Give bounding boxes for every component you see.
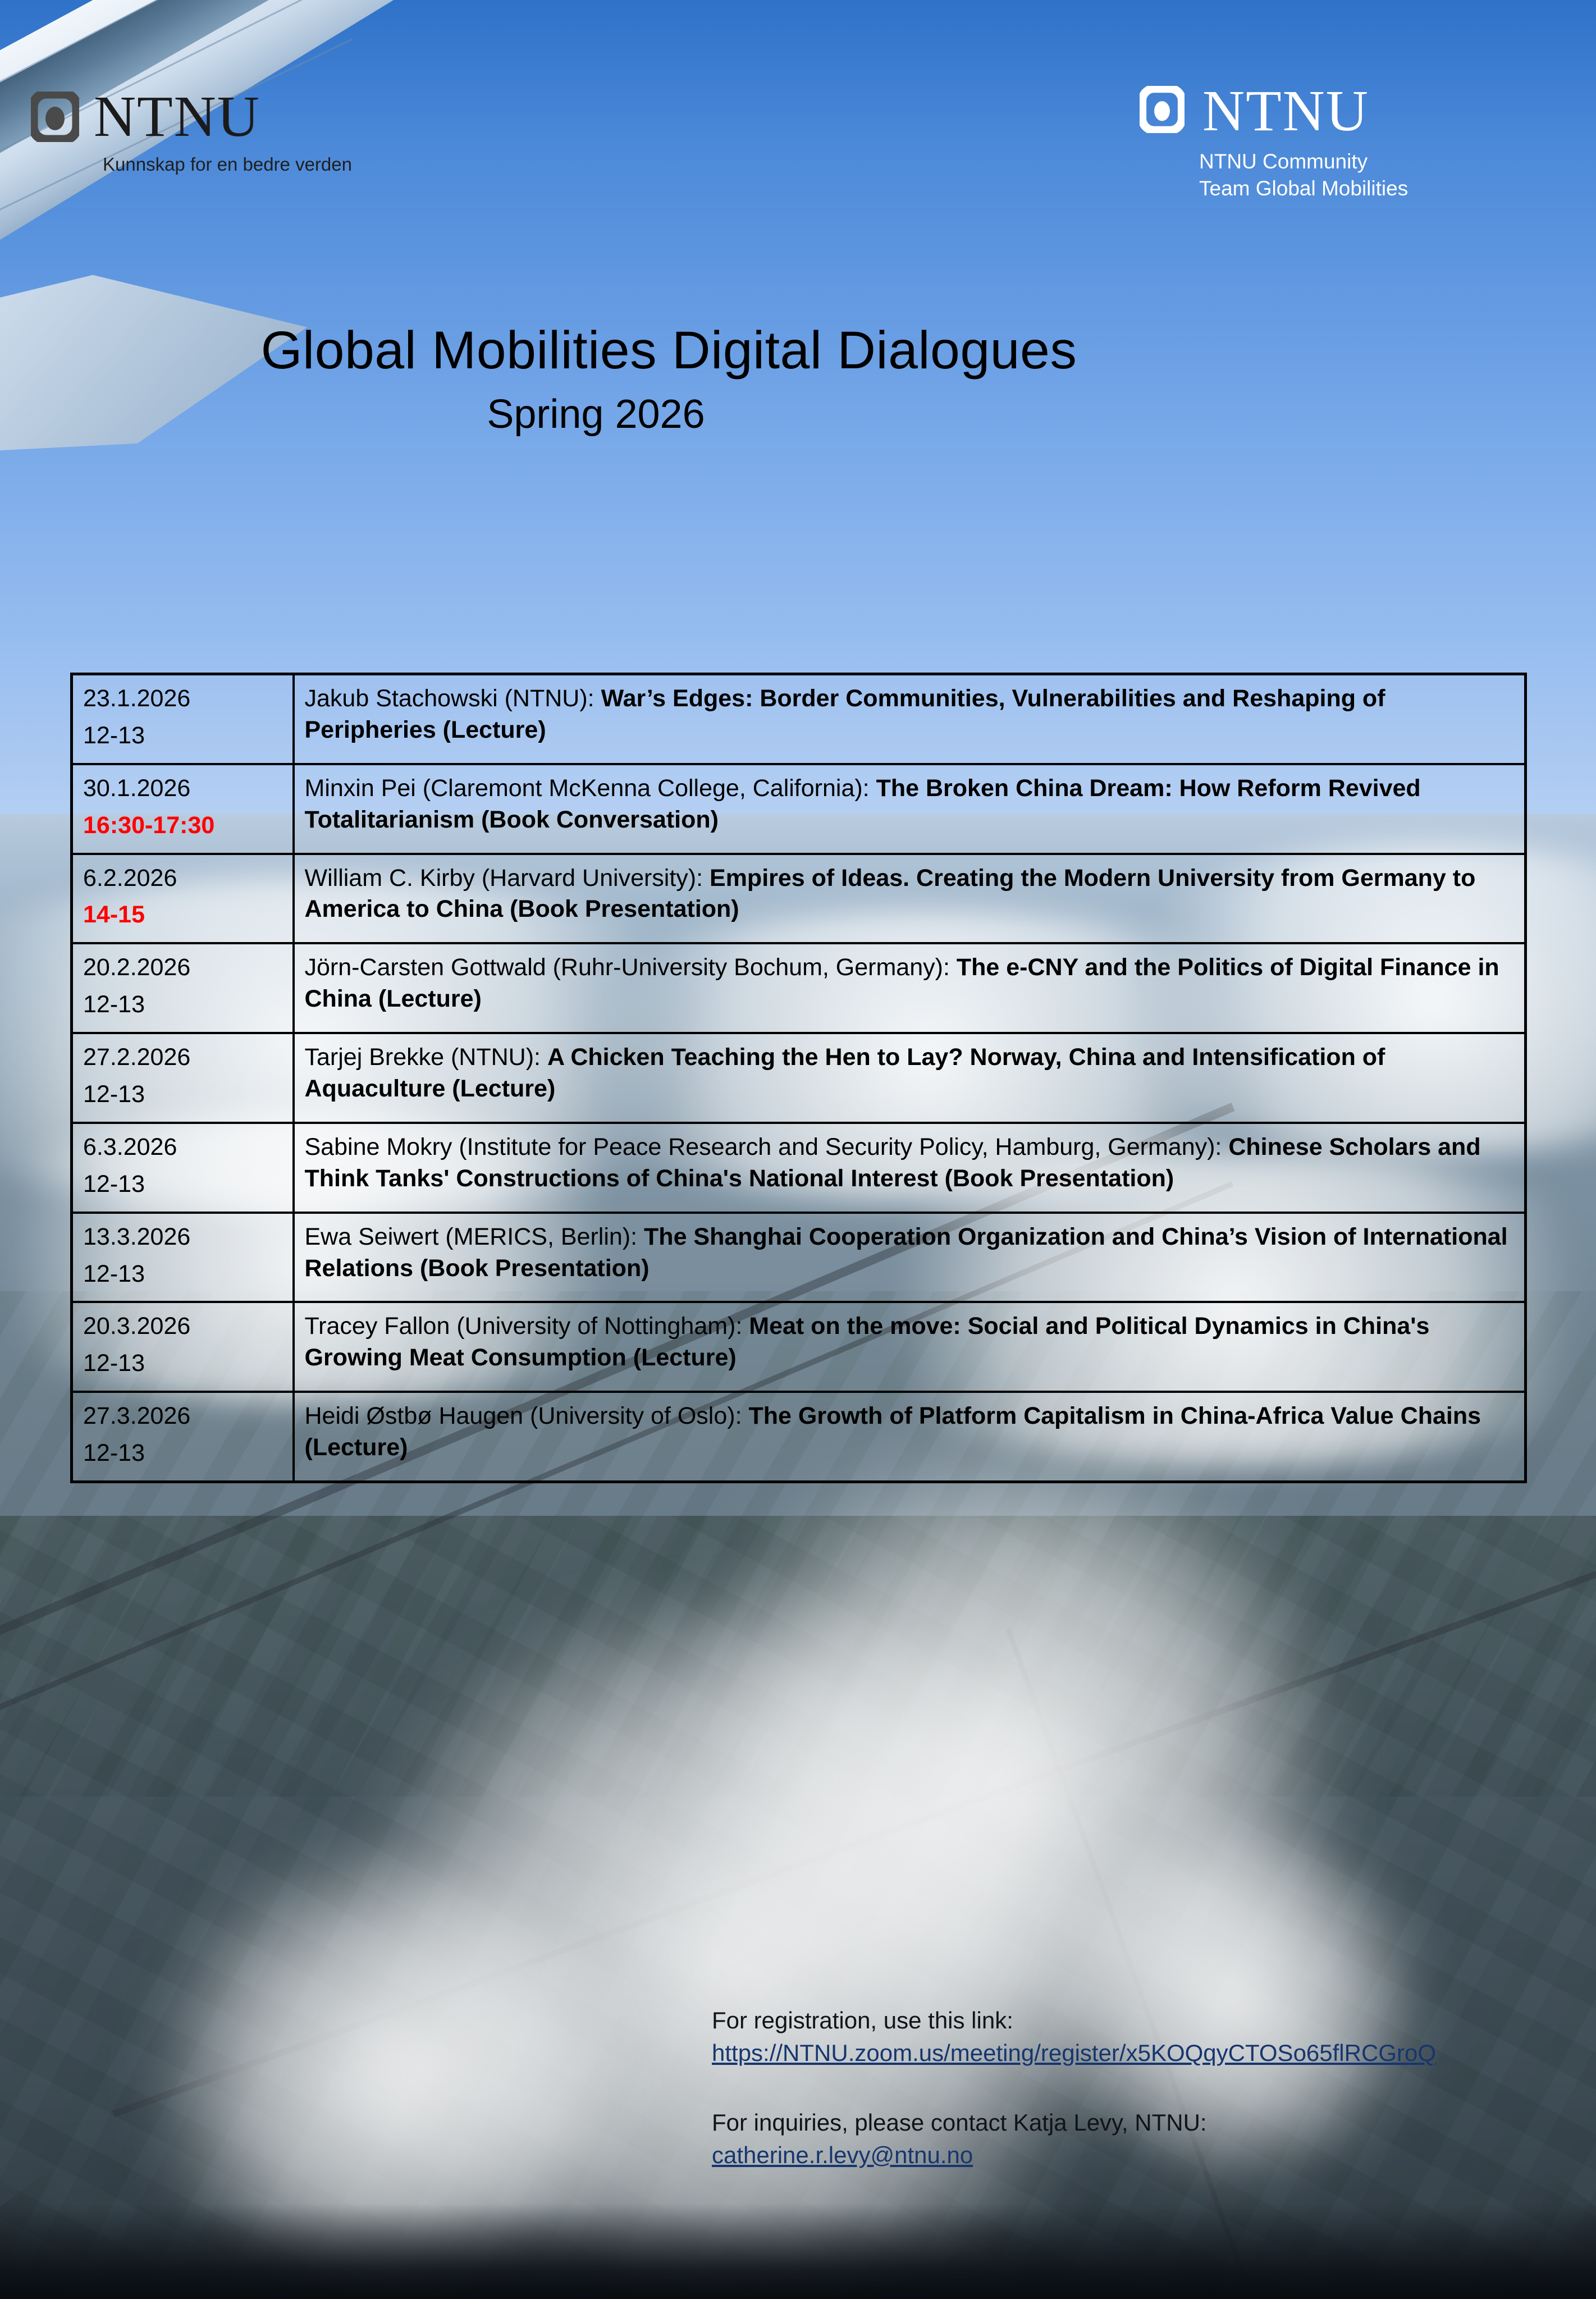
ntnu-wordmark: NTNU (94, 90, 260, 144)
schedule-date: 23.1.2026 (83, 683, 282, 715)
schedule-speaker: Tracey Fallon (University of Nottingham)… (305, 1313, 749, 1340)
schedule-speaker: Ewa Seiwert (MERICS, Berlin): (305, 1223, 644, 1250)
poster-title: Global Mobilities Digital Dialogues (0, 320, 1596, 381)
schedule-date: 27.2.2026 (83, 1042, 282, 1073)
schedule-date-cell: 23.1.202612-13 (72, 674, 294, 764)
poster-subtitle: Spring 2026 (0, 391, 1596, 437)
schedule-date: 6.2.2026 (83, 863, 282, 894)
poster: -2025 NTNU Kunnskap for en bedre verden (0, 0, 1596, 2299)
ntnu-logo-mark-icon (1140, 86, 1188, 136)
schedule-description-cell: Tracey Fallon (University of Nottingham)… (294, 1302, 1526, 1392)
schedule-date: 20.2.2026 (83, 952, 282, 984)
schedule-date-cell: 13.3.202612-13 (72, 1213, 294, 1302)
ntnu-logo-mark-icon (31, 92, 79, 142)
schedule-time: 12-13 (83, 989, 282, 1021)
schedule-description-cell: Ewa Seiwert (MERICS, Berlin): The Shangh… (294, 1213, 1526, 1302)
schedule-description-cell: Minxin Pei (Claremont McKenna College, C… (294, 764, 1526, 854)
schedule-speaker: William C. Kirby (Harvard University): (305, 865, 710, 892)
schedule-time: 12-13 (83, 720, 282, 752)
schedule-speaker: Tarjej Brekke (NTNU): (305, 1044, 547, 1071)
schedule-date-cell: 27.2.202612-13 (72, 1033, 294, 1123)
schedule-description-cell: Jakub Stachowski (NTNU): War’s Edges: Bo… (294, 674, 1526, 764)
ntnu-community-line2: Team Global Mobilities (1199, 175, 1408, 202)
footer-contact: For registration, use this link: https:/… (712, 2004, 1554, 2172)
schedule-date-cell: 6.3.202612-13 (72, 1123, 294, 1213)
table-row: 27.3.202612-13Heidi Østbø Haugen (Univer… (72, 1392, 1526, 1482)
schedule-speaker: Minxin Pei (Claremont McKenna College, C… (305, 775, 876, 802)
schedule-date: 13.3.2026 (83, 1222, 282, 1253)
schedule-speaker: Jörn-Carsten Gottwald (Ruhr-University B… (305, 954, 957, 981)
schedule-date: 6.3.2026 (83, 1132, 282, 1163)
ntnu-logo-left: NTNU Kunnskap for en bedre verden (31, 90, 352, 177)
registration-link[interactable]: https://NTNU.zoom.us/meeting/register/x5… (712, 2037, 1554, 2069)
schedule-speaker: Heidi Østbø Haugen (University of Oslo): (305, 1402, 749, 1429)
table-row: 6.2.202614-15William C. Kirby (Harvard U… (72, 854, 1526, 944)
table-row: 27.2.202612-13Tarjej Brekke (NTNU): A Ch… (72, 1033, 1526, 1123)
schedule-date-cell: 20.2.202612-13 (72, 943, 294, 1033)
schedule-speaker: Sabine Mokry (Institute for Peace Resear… (305, 1133, 1229, 1160)
table-row: 23.1.202612-13Jakub Stachowski (NTNU): W… (72, 674, 1526, 764)
schedule-time: 12-13 (83, 1348, 282, 1379)
poster-title-block: Global Mobilities Digital Dialogues Spri… (0, 320, 1596, 437)
schedule-date: 27.3.2026 (83, 1401, 282, 1432)
schedule-time: 12-13 (83, 1438, 282, 1469)
table-row: 13.3.202612-13Ewa Seiwert (MERICS, Berli… (72, 1213, 1526, 1302)
inquiries-email-link[interactable]: catherine.r.levy@ntnu.no (712, 2139, 1554, 2172)
schedule-description-cell: Jörn-Carsten Gottwald (Ruhr-University B… (294, 943, 1526, 1033)
schedule-date-cell: 6.2.202614-15 (72, 854, 294, 944)
schedule-description-cell: Sabine Mokry (Institute for Peace Resear… (294, 1123, 1526, 1213)
registration-label: For registration, use this link: (712, 2004, 1554, 2037)
schedule-description-cell: William C. Kirby (Harvard University): E… (294, 854, 1526, 944)
schedule-date: 30.1.2026 (83, 773, 282, 805)
schedule-description-cell: Tarjej Brekke (NTNU): A Chicken Teaching… (294, 1033, 1526, 1123)
schedule-time: 12-13 (83, 1169, 282, 1200)
ntnu-logo-right: NTNU NTNU Community Team Global Mobiliti… (1140, 84, 1408, 202)
inquiries-label: For inquiries, please contact Katja Levy… (712, 2106, 1554, 2139)
schedule-time: 12-13 (83, 1259, 282, 1290)
schedule-speaker: Jakub Stachowski (NTNU): (305, 685, 601, 712)
table-row: 20.3.202612-13Tracey Fallon (University … (72, 1302, 1526, 1392)
schedule-description-cell: Heidi Østbø Haugen (University of Oslo):… (294, 1392, 1526, 1482)
footer-spacer (712, 2069, 1554, 2106)
schedule-date-cell: 30.1.202616:30-17:30 (72, 764, 294, 854)
table-row: 20.2.202612-13Jörn-Carsten Gottwald (Ruh… (72, 943, 1526, 1033)
cloud (140, 1853, 646, 2299)
schedule-date: 20.3.2026 (83, 1311, 282, 1342)
schedule-time: 14-15 (83, 899, 282, 931)
schedule-date-cell: 20.3.202612-13 (72, 1302, 294, 1392)
table-row: 30.1.202616:30-17:30Minxin Pei (Claremon… (72, 764, 1526, 854)
schedule-table: 23.1.202612-13Jakub Stachowski (NTNU): W… (70, 673, 1527, 1483)
ntnu-community-line1: NTNU Community (1199, 148, 1368, 175)
schedule-time: 12-13 (83, 1079, 282, 1110)
ntnu-wordmark: NTNU (1202, 84, 1369, 138)
ntnu-tagline: Kunnskap for en bedre verden (103, 153, 352, 177)
table-row: 6.3.202612-13Sabine Mokry (Institute for… (72, 1123, 1526, 1213)
schedule-time: 16:30-17:30 (83, 810, 282, 842)
schedule-date-cell: 27.3.202612-13 (72, 1392, 294, 1482)
